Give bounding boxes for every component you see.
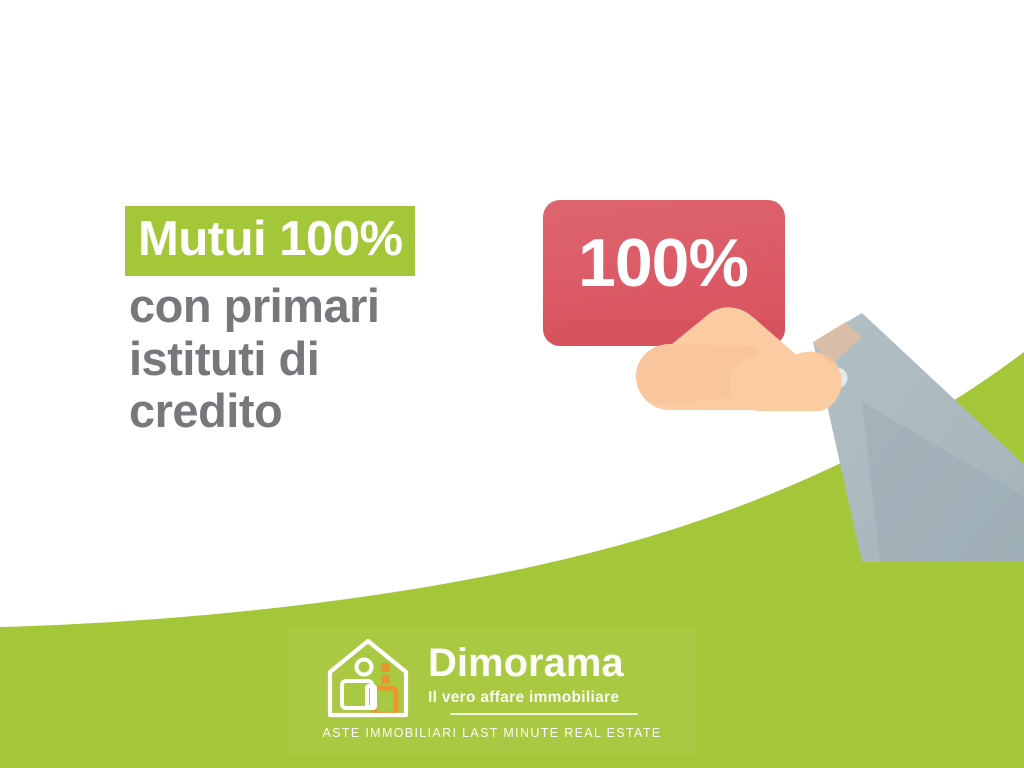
logo-house-details: [342, 660, 375, 709]
headline-block: Mutui 100% con primari istituti di credi…: [125, 206, 555, 438]
illustration-svg: [510, 170, 1024, 570]
headline-line-2: istituti di: [129, 333, 555, 386]
logo-subline: ASTE IMMOBILIARI LAST MINUTE REAL ESTATE: [288, 726, 696, 740]
logo-text-block: Dimorama Il vero affare immobiliare: [428, 643, 638, 715]
hand-with-percent-card-illustration: 100%: [510, 170, 1024, 570]
headline-body: con primari istituti di credito: [125, 280, 555, 438]
logo-divider: [450, 713, 638, 715]
headline-line-1: con primari: [129, 280, 555, 333]
brand-logo-lockup: Dimorama Il vero affare immobiliare ASTE…: [288, 628, 696, 754]
logo-row: Dimorama Il vero affare immobiliare: [324, 636, 638, 720]
house-logo-icon: [324, 636, 420, 720]
banner-canvas: 100% Mutui 100% con primari istituti di …: [0, 0, 1024, 768]
logo-tagline: Il vero affare immobiliare: [428, 690, 638, 706]
logo-orange-accent: [374, 663, 396, 714]
headline-line-3: credito: [129, 385, 555, 438]
headline-highlight: Mutui 100%: [125, 206, 415, 276]
logo-name: Dimorama: [428, 643, 638, 683]
